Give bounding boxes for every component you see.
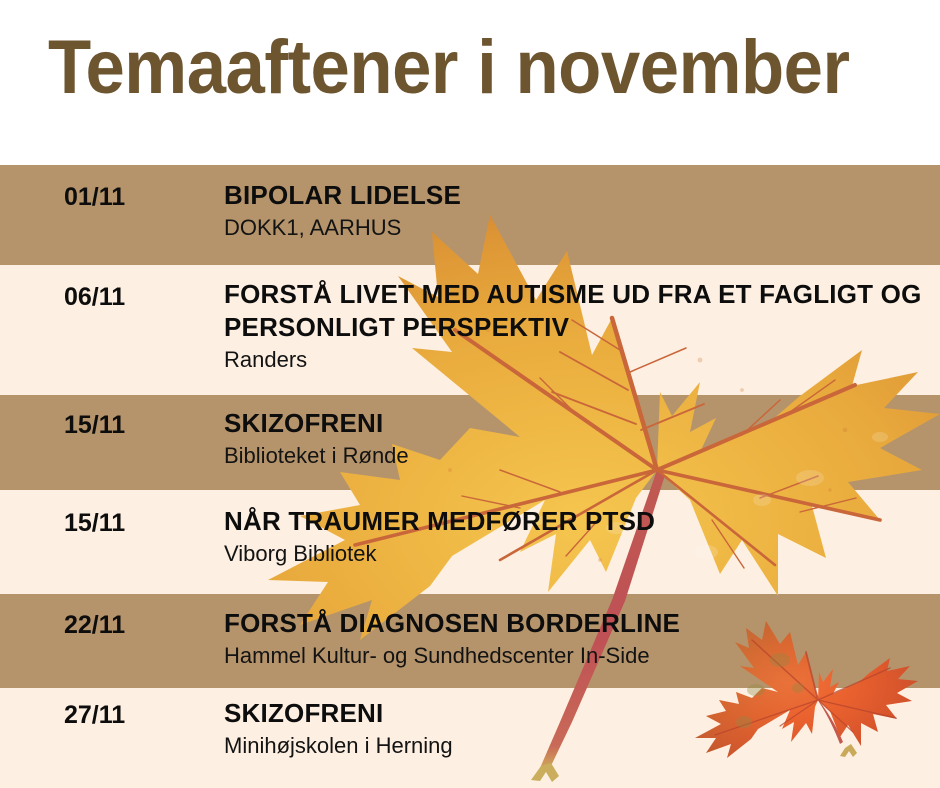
event-venue: DOKK1, AARHUS: [224, 214, 932, 242]
event-body: SKIZOFRENIMinihøjskolen i Herning: [224, 697, 932, 760]
event-title: FORSTÅ LIVET MED AUTISME UD FRA ET FAGLI…: [224, 278, 932, 344]
event-row[interactable]: 06/11FORSTÅ LIVET MED AUTISME UD FRA ET …: [0, 265, 940, 395]
event-body: NÅR TRAUMER MEDFØRER PTSDViborg Bibliote…: [224, 505, 932, 568]
header-band: Temaaftener i november: [0, 0, 940, 165]
event-venue: Minihøjskolen i Herning: [224, 732, 932, 760]
event-row[interactable]: 15/11NÅR TRAUMER MEDFØRER PTSDViborg Bib…: [0, 490, 940, 594]
event-row[interactable]: 22/11FORSTÅ DIAGNOSEN BORDERLINEHammel K…: [0, 594, 940, 688]
event-date: 22/11: [64, 610, 125, 640]
event-title: SKIZOFRENI: [224, 407, 932, 440]
event-row[interactable]: 01/11BIPOLAR LIDELSEDOKK1, AARHUS: [0, 165, 940, 265]
event-row[interactable]: 27/11SKIZOFRENIMinihøjskolen i Herning: [0, 688, 940, 788]
event-body: BIPOLAR LIDELSEDOKK1, AARHUS: [224, 179, 932, 242]
event-date: 01/11: [64, 182, 125, 212]
event-body: FORSTÅ DIAGNOSEN BORDERLINEHammel Kultur…: [224, 607, 932, 670]
event-venue: Viborg Bibliotek: [224, 540, 932, 568]
event-row[interactable]: 15/11SKIZOFRENIBiblioteket i Rønde: [0, 395, 940, 490]
event-venue: Randers: [224, 346, 932, 374]
event-date: 15/11: [64, 410, 125, 440]
event-date: 27/11: [64, 700, 125, 730]
page-title: Temaaftener i november: [48, 26, 850, 110]
event-venue: Hammel Kultur- og Sundhedscenter In-Side: [224, 642, 932, 670]
poster-canvas: Temaaftener i november 01/11BIPOLAR LIDE…: [0, 0, 940, 788]
event-venue: Biblioteket i Rønde: [224, 442, 932, 470]
event-title: NÅR TRAUMER MEDFØRER PTSD: [224, 505, 932, 538]
event-date: 15/11: [64, 508, 125, 538]
event-title: FORSTÅ DIAGNOSEN BORDERLINE: [224, 607, 932, 640]
event-body: FORSTÅ LIVET MED AUTISME UD FRA ET FAGLI…: [224, 278, 932, 374]
event-title: SKIZOFRENI: [224, 697, 932, 730]
event-body: SKIZOFRENIBiblioteket i Rønde: [224, 407, 932, 470]
event-title: BIPOLAR LIDELSE: [224, 179, 932, 212]
event-date: 06/11: [64, 282, 125, 312]
